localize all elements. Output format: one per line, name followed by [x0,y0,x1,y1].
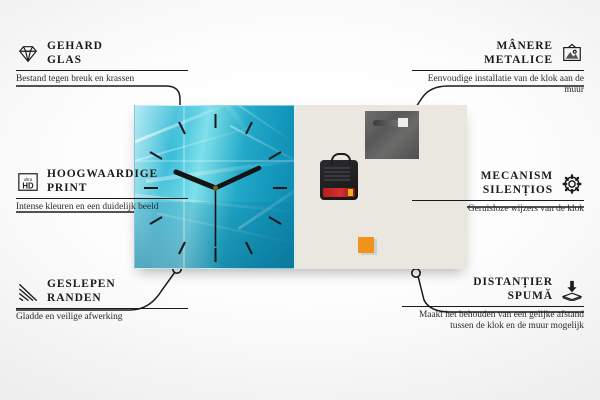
feature-title: MÂNEREMETALICE [484,40,553,67]
feature-header: GEHARDGLAS [16,40,188,67]
feature-divider [16,308,188,309]
feature-description: Eenvoudige installatie van de klok aan d… [412,74,584,97]
feature-gehard-glas: GEHARDGLAS Bestand tegen breuk en krasse… [16,40,188,85]
clock-mechanism-box [320,160,358,200]
feature-title: MECANISMSILENȚIOS [481,170,553,197]
svg-text:HD: HD [22,181,34,190]
mechanism-dial [324,167,350,181]
beveled-edges-icon [16,281,40,303]
hanger-hole [398,118,408,127]
feature-title: GEHARDGLAS [47,40,103,67]
metal-hanger-plate [365,111,419,159]
feature-divider [16,198,188,199]
feature-header: MÂNEREMETALICE [412,40,584,67]
ultra-hd-icon: ultra HD [16,171,40,193]
picture-hanger-icon [560,43,584,65]
feature-description: Bestand tegen breuk en krassen [16,74,188,85]
callout-line-gehard-glas [16,86,180,107]
feature-mecanism-silentios: MECANISMSILENȚIOS Geruisloze wijzers van… [412,170,584,215]
infographic-canvas: GEHARDGLAS Bestand tegen breuk en krasse… [0,0,600,400]
feature-title: HOOGWAARDIGEPRINT [47,168,158,195]
feature-description: Intense kleuren en een duidelijk beeld [16,202,188,213]
feature-divider [16,70,188,71]
feature-header: GESLEPENRANDEN [16,278,188,305]
feature-description: Maakt het behouden van een gelijke afsta… [402,310,584,333]
foam-spacer-icon [560,279,584,301]
feature-header: ultra HD HOOGWAARDIGEPRINT [16,168,188,195]
feature-geslepen-randen: GESLEPENRANDEN Gladde en veilige afwerki… [16,278,188,323]
diamond-icon [16,43,40,65]
feature-divider [402,306,584,307]
feature-manere-metalice: MÂNEREMETALICE Eenvoudige installatie va… [412,40,584,97]
battery [323,188,355,197]
feature-description: Geruisloze wijzers van de klok [412,204,584,215]
feature-title: DISTANȚIERSPUMĂ [473,276,553,303]
feature-divider [412,70,584,71]
feature-header: MECANISMSILENȚIOS [412,170,584,197]
feature-header: DISTANȚIERSPUMĂ [402,276,584,303]
mechanism-hook [331,153,351,165]
feature-description: Gladde en veilige afwerking [16,312,188,323]
feature-title: GESLEPENRANDEN [47,278,116,305]
feature-hoogwaardige-print: ultra HD HOOGWAARDIGEPRINT Intense kleur… [16,168,188,213]
foam-spacer-pad [358,237,374,253]
gear-icon [560,173,584,195]
feature-distantier-spuma: DISTANȚIERSPUMĂ Maakt het behouden van e… [402,276,584,333]
feature-divider [412,200,584,201]
